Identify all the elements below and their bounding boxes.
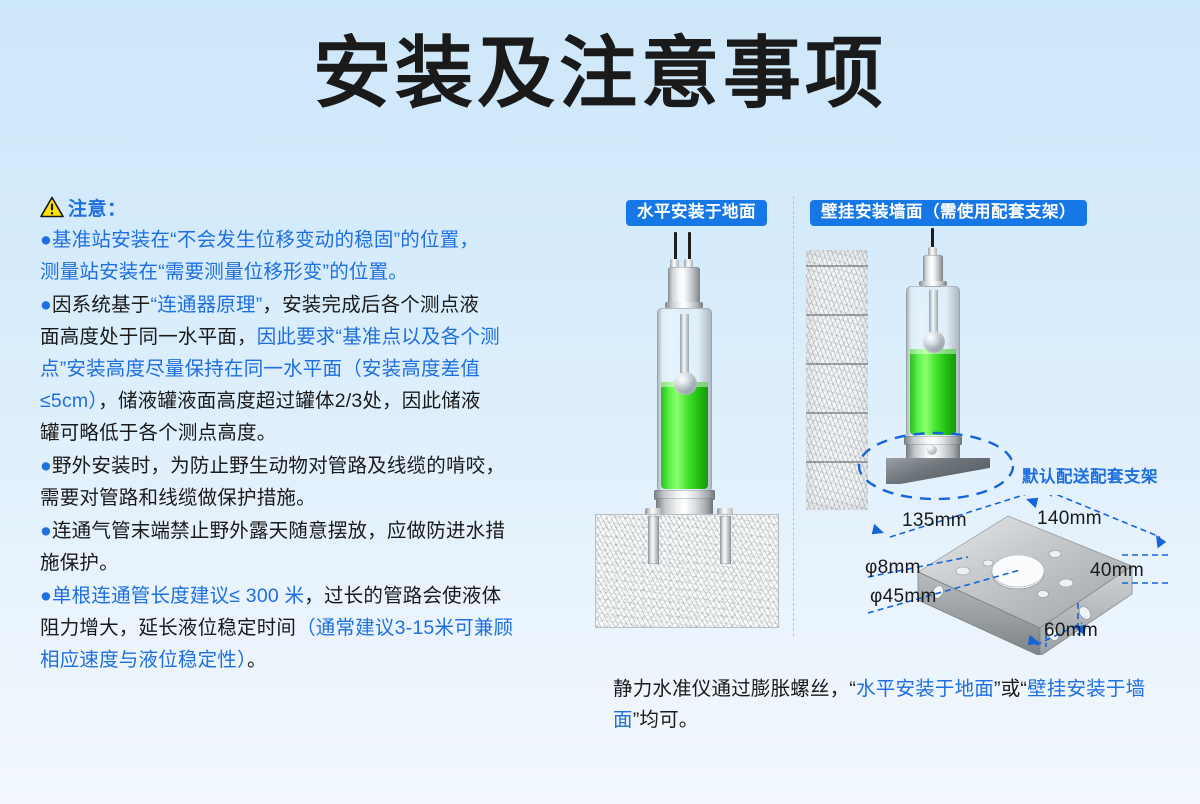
wall-float-ball [923,331,945,353]
bottom-caption: 静力水准仪通过膨胀螺丝，“水平安装于地面”或“壁挂安装于墙面”均可。 [613,674,1173,736]
caption-segment: 静力水准仪通过膨胀螺丝，“ [613,678,856,700]
note-text-segment: ≤5cm） [40,390,98,412]
cable-left [674,232,677,262]
float-ball [674,372,697,395]
note-text-segment: ，储液罐液面高度超过罐体2/3处，因此储液 [98,390,480,412]
panel-divider [793,196,794,636]
page-title: 安装及注意事项 [0,34,1200,112]
caption-segment: 水平安装于地面 [856,678,994,700]
note-text-segment: 相应速度与液位稳定性） [40,649,247,671]
note-text-segment: 因系统基于 [52,294,151,316]
dimension-135mm: 135mm [902,510,967,532]
note-bullet-icon: ● [40,520,52,542]
warning-heading: 注意： [40,192,560,222]
dimension-phi45mm: φ45mm [870,586,937,608]
caption-segment: ”均可。 [633,709,699,731]
note-text-segment: 点”安装高度尽量保持在同一水平面（安装高度差值 [40,358,480,380]
dimension-60mm: 60mm [1044,620,1098,642]
note-text-segment: 阻力增大，延长液位稳定时间 [40,617,296,639]
floor-mounted-device [590,232,790,652]
notes-body: ●基准站安装在“不会发生位移变动的稳固”的位置，测量站安装在“需要测量位移形变”… [40,224,560,676]
warning-label: 注意： [68,194,127,221]
wall-sensor-glass-tube [906,286,960,438]
concrete-foundation [595,514,779,628]
badge-wall-install: 壁挂安装墙面（需使用配套支架） [810,200,1087,226]
note-text-segment: 野外安装时，为防止野生动物对管路及线缆的啃咬， [52,455,505,477]
note-item: ●野外安装时，为防止野生动物对管路及线缆的啃咬，需要对管路和线缆做保护措施。 [40,450,560,514]
note-text-segment: 。 [247,649,267,671]
note-bullet-icon: ● [40,229,52,251]
note-text-segment: 基准站安装在“不会发生位移变动的稳固”的位置， [52,229,479,251]
note-item: ●因系统基于“连通器原理”，安装完成后各个测点液面高度处于同一水平面，因此要求“… [40,289,560,449]
badge-floor-install: 水平安装于地面 [626,200,767,226]
dimension-phi8mm: φ8mm [865,557,921,579]
dimension-140mm: 140mm [1037,508,1102,530]
note-item: ●基准站安装在“不会发生位移变动的稳固”的位置，测量站安装在“需要测量位移形变”… [40,224,560,288]
dimension-40mm: 40mm [1090,560,1144,582]
cable-right [688,232,691,262]
note-text-segment: 测量站安装在“需要测量位移形变”的位置。 [40,261,408,283]
notes-panel: 注意： ●基准站安装在“不会发生位移变动的稳固”的位置，测量站安装在“需要测量位… [40,192,560,677]
wall-liquid-column [910,349,956,435]
note-bullet-icon: ● [40,455,52,477]
poster-root: 安装及注意事项 注意： ●基准站安装在“不会发生位移变动的稳固”的位置，测量站安… [0,0,1200,804]
note-text-segment: “连通器原理” [151,294,263,316]
anchor-bolt-right-visible [720,516,731,564]
note-item: ●单根连通管长度建议≤ 300 米，过长的管路会使液体阻力增大，延长液位稳定时间… [40,580,560,676]
note-text-segment: 需要对管路和线缆做保护措施。 [40,487,316,509]
sensor-head-cap [668,267,700,305]
note-text-segment: 因此要求“基准点以及各个测 [257,326,500,348]
note-text-segment: ，过长的管路会使液体 [304,585,501,607]
note-text-segment: 罐可略低于各个测点高度。 [40,422,276,444]
bracket-callout-ellipse [856,430,1016,502]
sensor-glass-tube [657,308,712,492]
note-text-segment: ，安装完成后各个测点液 [262,294,479,316]
warning-triangle-icon [40,196,64,218]
note-bullet-icon: ● [40,585,52,607]
note-bullet-icon: ● [40,294,52,316]
bracket-callout-label: 默认配送配套支架 [1022,463,1158,487]
note-text-segment: （通常建议3-15米可兼顾 [296,617,513,639]
note-text-segment: 施保护。 [40,552,119,574]
note-text-segment: 单根连通管长度建议≤ 300 米 [52,585,304,607]
note-item: ●连通气管末端禁止野外露天随意摆放，应做防进水措施保护。 [40,515,560,579]
note-text-segment: 连通气管末端禁止野外露天随意摆放，应做防进水措 [52,520,505,542]
caption-segment: 壁挂安装 [1027,678,1106,700]
caption-segment: ”或“ [994,678,1027,700]
liquid-column [661,382,708,489]
note-text-segment: 面高度处于同一水平面， [40,326,257,348]
anchor-bolt-left-visible [648,516,659,564]
